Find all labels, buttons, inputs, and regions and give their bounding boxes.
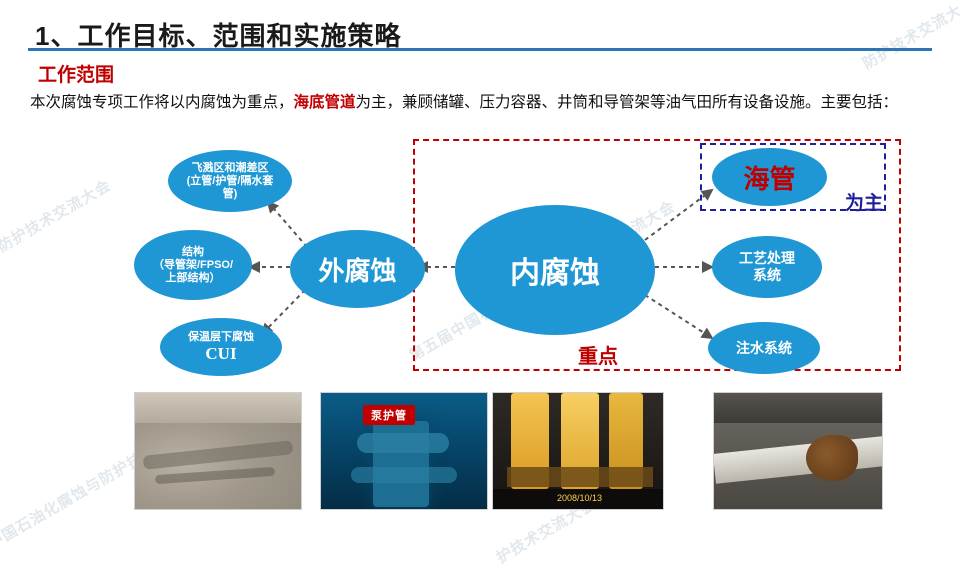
node-subsea-pipeline-label: 海管 (743, 159, 795, 196)
body-paragraph: 本次腐蚀专项工作将以内腐蚀为重点，海底管道为主，兼顾储罐、压力容器、井筒和导管架… (30, 88, 935, 118)
node-subsea-pipeline: 海管 (712, 148, 827, 206)
node-internal-corrosion-label: 内腐蚀 (510, 248, 600, 292)
photo-strip: 泵护管 2008/10/13 (0, 392, 960, 510)
label-key-point: 重点 (578, 340, 618, 369)
node-splash-zone-line2: (立管/护管/隔水套 (187, 175, 274, 188)
node-process-system-line1: 工艺处理 (739, 250, 795, 267)
node-process-system: 工艺处理 系统 (712, 236, 822, 298)
title-divider (28, 48, 932, 51)
photo-splash-zone-piles: 2008/10/13 (492, 392, 664, 510)
node-internal-corrosion: 内腐蚀 (455, 205, 655, 335)
node-process-system-line2: 系统 (739, 267, 795, 284)
label-primary: 为主 (845, 188, 883, 215)
paragraph-part-2: 为主，兼顾储罐、压力容器、井筒和导管架等油气田所有设备设施。主要包括： (356, 94, 899, 111)
photo-subsea-riser: 泵护管 (320, 392, 488, 510)
node-external-corrosion: 外腐蚀 (290, 230, 425, 308)
node-cui-line2: CUI (188, 344, 254, 364)
corrosion-scope-diagram: 飞溅区和潮差区 (立管/护管/隔水套 管) 结构 （导管架/FPSO/ 上部结构… (0, 140, 960, 390)
slide-title-bar: 1、工作目标、范围和实施策略 (0, 8, 960, 46)
section-title: 工作范围 (38, 60, 114, 87)
node-structure-line2: （导管架/FPSO/ (153, 259, 233, 272)
node-splash-zone: 飞溅区和潮差区 (立管/护管/隔水套 管) (168, 150, 292, 212)
node-structure-line3: 上部结构） (153, 272, 233, 285)
node-external-corrosion-label: 外腐蚀 (318, 251, 396, 288)
paragraph-highlight: 海底管道 (294, 94, 356, 111)
node-structure-line1: 结构 (153, 246, 233, 259)
node-water-injection: 注水系统 (708, 322, 820, 374)
node-structure: 结构 （导管架/FPSO/ 上部结构） (134, 230, 252, 300)
photo-concrete-corrosion (134, 392, 302, 510)
paragraph-part-1: 本次腐蚀专项工作将以内腐蚀为重点， (30, 94, 294, 111)
node-splash-zone-line1: 飞溅区和潮差区 (187, 162, 274, 175)
node-splash-zone-line3: 管) (187, 188, 274, 201)
node-cui: 保温层下腐蚀 CUI (160, 318, 282, 376)
node-cui-line1: 保温层下腐蚀 (188, 331, 254, 344)
photo-pipe-insulation-damage (713, 392, 883, 510)
photo-splash-zone-piles-caption: 2008/10/13 (557, 493, 602, 503)
node-water-injection-label: 注水系统 (736, 340, 792, 357)
photo-subsea-riser-tag: 泵护管 (363, 405, 415, 425)
